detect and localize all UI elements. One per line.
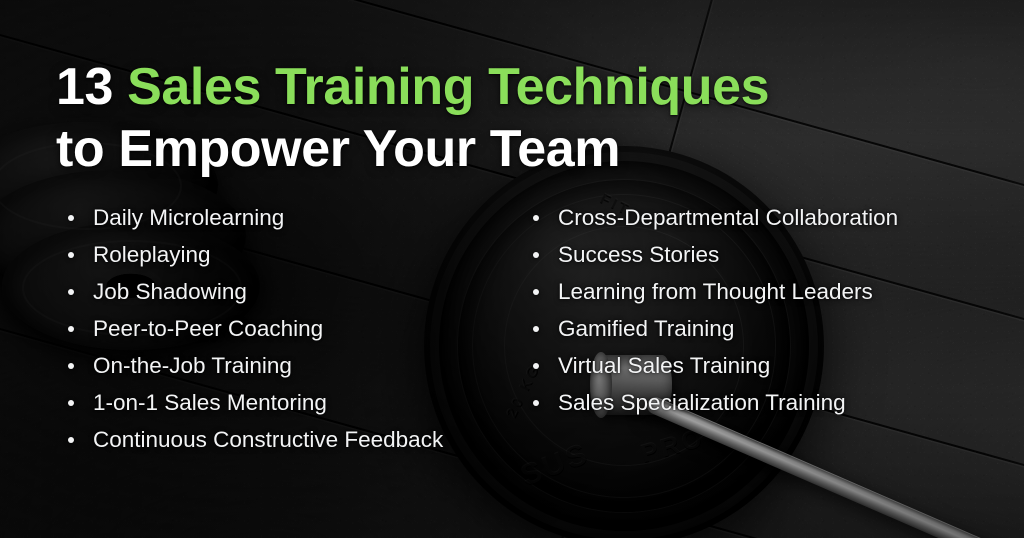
list-item-label: Learning from Thought Leaders	[558, 279, 873, 304]
bullet-icon	[68, 437, 74, 443]
list-item-label: Daily Microlearning	[93, 205, 284, 230]
list-item: Job Shadowing	[56, 273, 521, 310]
list-item-label: Success Stories	[558, 242, 719, 267]
bullet-icon	[68, 326, 74, 332]
banner-content: 13 Sales Training Techniques to Empower …	[0, 0, 1024, 538]
bullet-icon	[68, 215, 74, 221]
list-item: Virtual Sales Training	[521, 347, 1001, 384]
list-item-label: 1-on-1 Sales Mentoring	[93, 390, 327, 415]
sales-training-banner: SUS PRO 20 KG FIT 13 Sales Training Tech…	[0, 0, 1024, 538]
bullet-icon	[68, 252, 74, 258]
list-item: 1-on-1 Sales Mentoring	[56, 384, 521, 421]
bullet-icon	[68, 289, 74, 295]
techniques-column-right: Cross-Departmental Collaboration Success…	[521, 199, 1001, 458]
list-item: Cross-Departmental Collaboration	[521, 199, 1001, 236]
list-item: Peer-to-Peer Coaching	[56, 310, 521, 347]
list-item: Roleplaying	[56, 236, 521, 273]
list-item: Sales Specialization Training	[521, 384, 1001, 421]
techniques-columns: Daily Microlearning Roleplaying Job Shad…	[56, 199, 1000, 458]
list-item-label: Cross-Departmental Collaboration	[558, 205, 898, 230]
techniques-column-left: Daily Microlearning Roleplaying Job Shad…	[56, 199, 521, 458]
list-item-label: Virtual Sales Training	[558, 353, 770, 378]
bullet-icon	[533, 252, 539, 258]
headline-accent-text: Sales Training Techniques	[127, 58, 769, 116]
bullet-icon	[533, 363, 539, 369]
list-item-label: Job Shadowing	[93, 279, 247, 304]
bullet-icon	[68, 363, 74, 369]
list-item: Daily Microlearning	[56, 199, 521, 236]
page-title: 13 Sales Training Techniques to Empower …	[56, 56, 956, 180]
list-item-label: On-the-Job Training	[93, 353, 292, 378]
list-item-label: Gamified Training	[558, 316, 734, 341]
bullet-icon	[533, 215, 539, 221]
list-item: Learning from Thought Leaders	[521, 273, 1001, 310]
list-item-label: Sales Specialization Training	[558, 390, 846, 415]
list-item-label: Continuous Constructive Feedback	[93, 427, 443, 452]
bullet-icon	[533, 289, 539, 295]
techniques-list-right: Cross-Departmental Collaboration Success…	[521, 199, 1001, 421]
list-item-label: Peer-to-Peer Coaching	[93, 316, 323, 341]
list-item: Success Stories	[521, 236, 1001, 273]
headline-line-2: to Empower Your Team	[56, 118, 956, 180]
list-item-label: Roleplaying	[93, 242, 211, 267]
list-item: Gamified Training	[521, 310, 1001, 347]
list-item: On-the-Job Training	[56, 347, 521, 384]
bullet-icon	[533, 400, 539, 406]
bullet-icon	[533, 326, 539, 332]
headline-count: 13	[56, 58, 127, 116]
list-item: Continuous Constructive Feedback	[56, 421, 521, 458]
techniques-list-left: Daily Microlearning Roleplaying Job Shad…	[56, 199, 521, 458]
bullet-icon	[68, 400, 74, 406]
headline-line-1: 13 Sales Training Techniques	[56, 56, 956, 118]
